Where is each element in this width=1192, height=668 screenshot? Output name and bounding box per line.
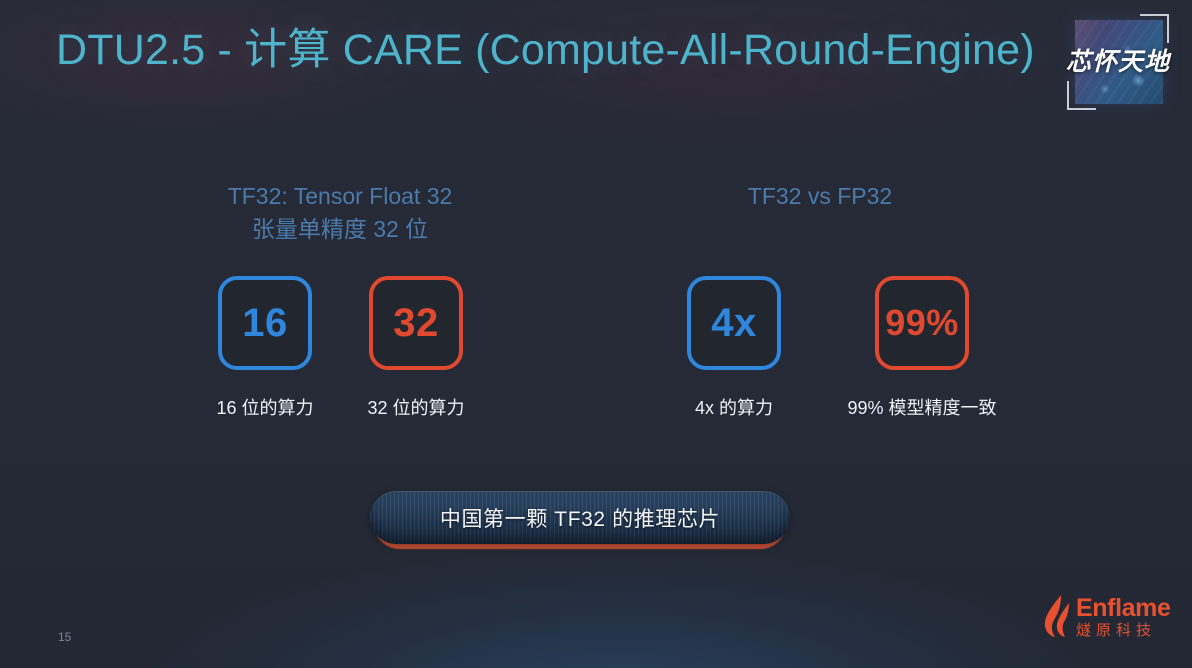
group-heading-line1: TF32: Tensor Float 32 <box>140 180 540 213</box>
stat-caption: 16 位的算力 <box>190 394 340 420</box>
stat-value: 16 <box>242 303 288 343</box>
banner-pill: 中国第一颗 TF32 的推理芯片 <box>370 491 790 544</box>
stat-box: 32 <box>369 276 463 370</box>
banner-label: 中国第一颗 TF32 的推理芯片 <box>440 503 720 533</box>
group-heading-line2: 张量单精度 32 位 <box>140 213 540 246</box>
company-logo: Enflame 燧原科技 <box>1036 592 1178 648</box>
stat-box: 4x <box>687 276 781 370</box>
stat-card-16: 16 16 位的算力 <box>190 276 340 420</box>
stat-card-32: 32 32 位的算力 <box>341 276 491 420</box>
stat-value: 99% <box>885 305 959 341</box>
stat-value: 32 <box>393 303 439 343</box>
corner-bracket-bottom-left-icon <box>1067 81 1096 110</box>
brand-badge-label: 芯怀天地 <box>1053 42 1183 78</box>
flame-icon <box>1040 594 1074 638</box>
group-heading-tf32-definition: TF32: Tensor Float 32 张量单精度 32 位 <box>140 180 540 246</box>
highlight-banner: 中国第一颗 TF32 的推理芯片 <box>370 491 790 549</box>
corner-bracket-top-right-icon <box>1140 14 1169 43</box>
page-number: 15 <box>58 630 71 644</box>
stat-box: 99% <box>875 276 969 370</box>
stat-box: 16 <box>218 276 312 370</box>
company-name-cn: 燧原科技 <box>1076 622 1156 640</box>
stat-caption: 4x 的算力 <box>659 394 809 420</box>
company-name: Enflame <box>1076 594 1170 622</box>
stat-caption: 99% 模型精度一致 <box>827 394 1017 420</box>
stat-caption: 32 位的算力 <box>341 394 491 420</box>
brand-badge: 芯怀天地 <box>1053 8 1183 116</box>
stat-card-99pct: 99% 99% 模型精度一致 <box>827 276 1017 420</box>
group-heading-line1: TF32 vs FP32 <box>620 180 1020 213</box>
group-heading-tf32-vs-fp32: TF32 vs FP32 <box>620 180 1020 213</box>
slide-canvas: DTU2.5 - 计算 CARE (Compute-All-Round-Engi… <box>0 0 1192 668</box>
stat-value: 4x <box>711 303 757 343</box>
stat-card-4x: 4x 4x 的算力 <box>659 276 809 420</box>
page-title: DTU2.5 - 计算 CARE (Compute-All-Round-Engi… <box>56 22 1035 78</box>
